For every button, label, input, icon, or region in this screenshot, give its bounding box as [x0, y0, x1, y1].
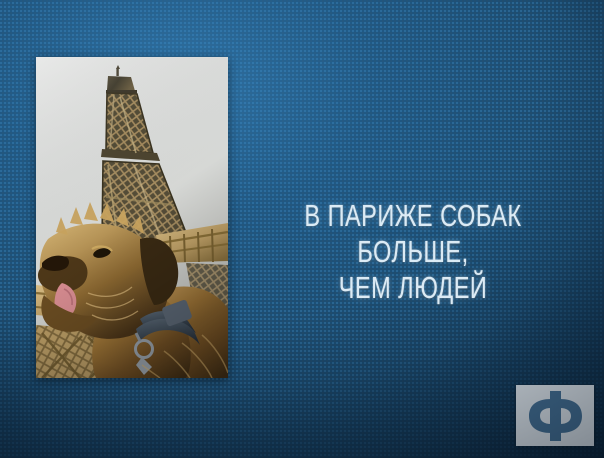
- logo-badge[interactable]: [516, 385, 594, 446]
- caption-text: В ПАРИЖЕ СОБАК БОЛЬШЕ, ЧЕМ ЛЮДЕЙ: [278, 198, 547, 306]
- logo-letter-f-icon: [527, 391, 583, 441]
- photo-dog-eiffel-tower: [36, 57, 228, 378]
- photo-illustration: [36, 57, 228, 378]
- slide-canvas: В ПАРИЖЕ СОБАК БОЛЬШЕ, ЧЕМ ЛЮДЕЙ: [0, 0, 604, 458]
